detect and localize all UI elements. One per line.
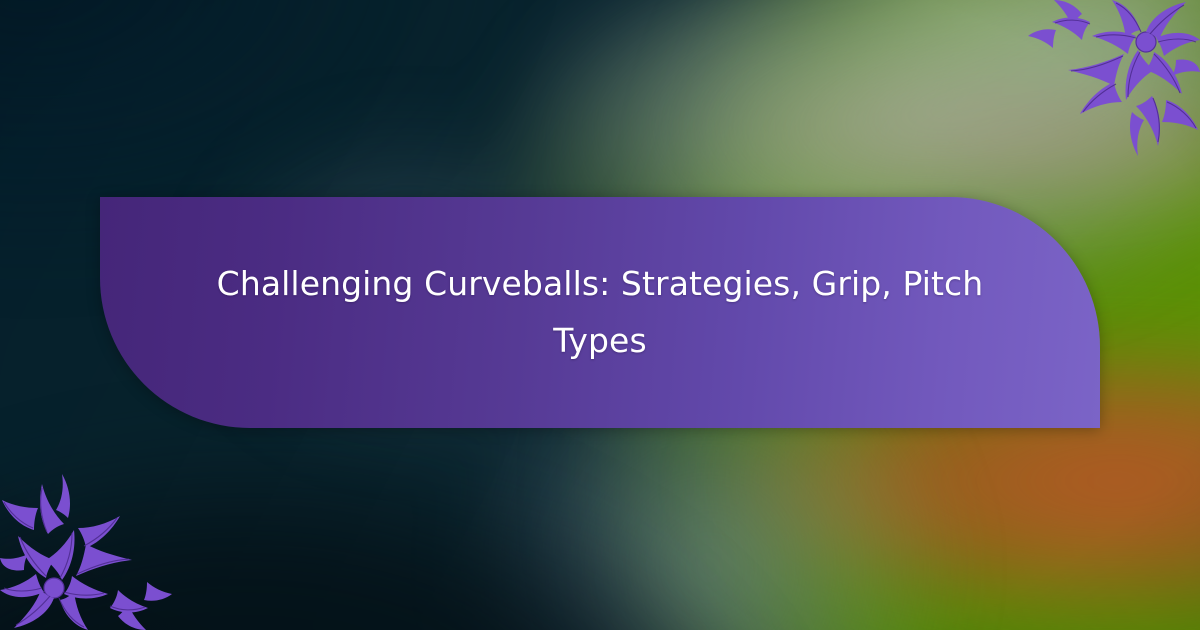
corner-ornament-top-right-icon [1028, 0, 1200, 160]
corner-ornament-bottom-left-icon [0, 470, 172, 630]
page-title: Challenging Curveballs: Strategies, Grip… [100, 256, 1100, 370]
social-share-card: Challenging Curveballs: Strategies, Grip… [0, 0, 1200, 630]
title-banner: Challenging Curveballs: Strategies, Grip… [100, 197, 1100, 428]
